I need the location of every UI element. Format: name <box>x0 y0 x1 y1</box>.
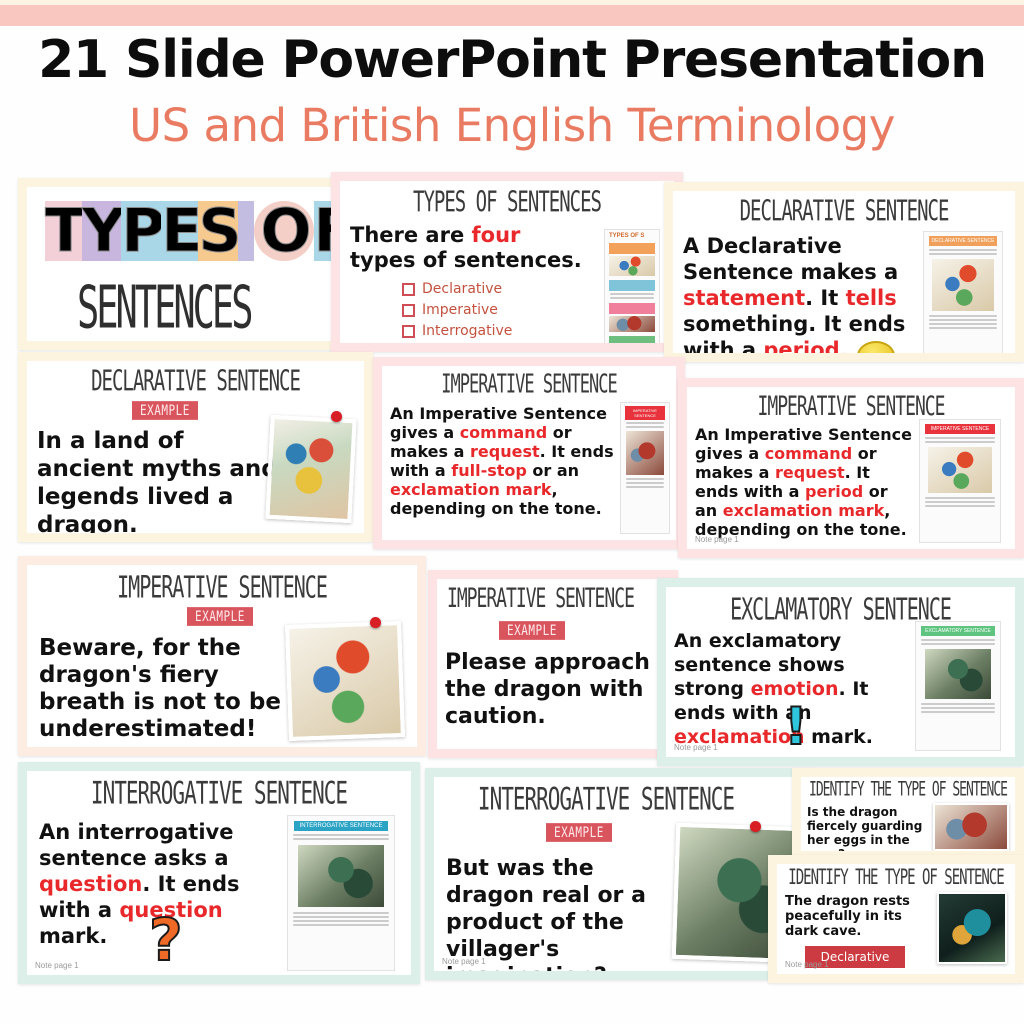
checkbox-icon[interactable] <box>402 325 415 338</box>
mini-poster-title: DECLARATIVE SENTENCE <box>929 236 997 246</box>
note-label: Note page 1 <box>674 743 718 752</box>
mini-poster-thumbnail: INTERROGATIVE SENTENCE <box>287 815 395 971</box>
slide-imperative-example-2[interactable]: IMPERATIVE SENTENCE EXAMPLE Please appro… <box>428 570 678 758</box>
slide-imperative-british[interactable]: IMPERATIVE SENTENCE An Imperative Senten… <box>373 357 685 549</box>
example-badge: EXAMPLE <box>132 401 198 420</box>
slide-body: Beware, for the dragon's fiery breath is… <box>39 635 289 743</box>
mini-poster-thumbnail: IMPERATIVE SENTENCE <box>620 402 670 534</box>
slide-types-of-sentences[interactable]: TYPES OF SENTENCES There are four types … <box>331 172 683 352</box>
title-slide-word-bottom: SENTENCES <box>77 273 250 342</box>
slide-imperative-us[interactable]: IMPERATIVE SENTENCE An Imperative Senten… <box>678 378 1024 558</box>
question-mark-icon: ? <box>149 911 183 969</box>
slide-heading: IMPERATIVE SENTENCE <box>687 391 1015 423</box>
slide-declarative-definition[interactable]: DECLARATIVE SENTENCE A Declarative Sente… <box>664 182 1024 362</box>
slide-heading: DECLARATIVE SENTENCE <box>673 195 1015 228</box>
slide-heading: IMPERATIVE SENTENCE <box>27 569 417 605</box>
mini-poster-title: INTERROGATIVE SENTENCE <box>294 821 388 831</box>
body-highlight: four <box>472 223 521 247</box>
page-subtitle: US and British English Terminology <box>0 103 1024 148</box>
mini-poster-title: IMPERATIVE SENTENCE <box>625 406 665 420</box>
page-title: 21 Slide PowerPoint Presentation <box>0 34 1024 86</box>
slide-interrogative-example[interactable]: INTERROGATIVE SENTENCE EXAMPLE But was t… <box>425 768 817 980</box>
checkbox-icon[interactable] <box>402 346 415 353</box>
sentence-type-list: Declarative Imperative Interrogative Exc… <box>402 279 512 352</box>
title-slide-word-top: TYPES OF <box>45 201 340 261</box>
slide-heading: DECLARATIVE SENTENCE <box>27 365 364 398</box>
mini-poster-title: EXCLAMATORY SENTENCE <box>921 626 995 636</box>
slide-interrogative-definition[interactable]: INTERROGATIVE SENTENCE An interrogative … <box>18 762 420 984</box>
exclamation-mark-icon: ! <box>784 701 808 753</box>
slide-body: There are four types of sentences. <box>350 223 595 273</box>
slide-heading: TYPES OF SENTENCES <box>340 186 674 219</box>
slide-body: An Imperative Sentence gives a command o… <box>695 425 913 539</box>
pin-icon <box>750 821 761 832</box>
dragon-photo <box>265 415 356 523</box>
dragon-photo <box>285 621 405 741</box>
body-part-1: There are <box>350 223 472 247</box>
slide-heading: IDENTIFY THE TYPE OF SENTENCE <box>777 866 1015 890</box>
dragon-photo <box>933 803 1009 851</box>
checkbox-icon[interactable] <box>402 304 415 317</box>
top-banner-cap <box>0 0 1024 5</box>
mini-poster-thumbnail: DECLARATIVE SENTENCE <box>923 231 1003 361</box>
note-label: Note page 1 <box>695 535 739 544</box>
example-badge: EXAMPLE <box>187 607 253 626</box>
slide-declarative-example[interactable]: DECLARATIVE SENTENCE EXAMPLE In a land o… <box>18 352 373 542</box>
list-item: Interrogative <box>402 321 512 342</box>
slide-body: The dragon rests peacefully in its dark … <box>785 894 925 939</box>
slide-heading: IMPERATIVE SENTENCE <box>382 370 676 400</box>
slide-heading: IDENTIFY THE TYPE OF SENTENCE <box>801 779 1015 802</box>
slide-body: In a land of ancient myths and legends l… <box>37 427 282 539</box>
mini-poster-thumbnail: TYPES OF S <box>604 229 660 349</box>
example-badge: EXAMPLE <box>546 823 612 842</box>
slide-identify-2[interactable]: IDENTIFY THE TYPE OF SENTENCE The dragon… <box>768 855 1024 983</box>
note-label: Note page 1 <box>785 960 829 969</box>
slide-body: Is the dragon fiercely guarding her eggs… <box>807 805 939 860</box>
slide-exclamatory-definition[interactable]: EXCLAMATORY SENTENCE An exclamatory sent… <box>657 578 1024 766</box>
list-item: Exclamatory <box>402 342 512 352</box>
checkbox-icon[interactable] <box>402 283 415 296</box>
mini-poster-label: TYPES OF S <box>609 233 655 239</box>
example-badge: EXAMPLE <box>499 621 565 640</box>
slide-heading: IMPERATIVE SENTENCE <box>447 583 678 615</box>
slide-title[interactable]: TYPES OF SENTENCES <box>18 178 340 350</box>
slide-imperative-example-1[interactable]: IMPERATIVE SENTENCE EXAMPLE Beware, for … <box>18 556 426 756</box>
pin-icon <box>331 411 342 422</box>
slide-body: Please approach the dragon with caution. <box>445 649 670 730</box>
pin-icon <box>370 617 381 628</box>
body-part-2: types of sentences. <box>350 248 582 272</box>
mini-poster-title: IMPERATIVE SENTENCE <box>925 424 995 434</box>
list-item: Imperative <box>402 300 512 321</box>
list-item: Declarative <box>402 279 512 300</box>
note-label: Note page 1 <box>442 957 486 966</box>
slide-heading: INTERROGATIVE SENTENCE <box>27 775 411 811</box>
preview-collage: 21 Slide PowerPoint Presentation US and … <box>0 0 1024 1024</box>
mini-poster-thumbnail: IMPERATIVE SENTENCE <box>919 419 1001 543</box>
slide-identify-1[interactable]: IDENTIFY THE TYPE OF SENTENCE Is the dra… <box>792 768 1024 860</box>
mini-poster-thumbnail: EXCLAMATORY SENTENCE <box>915 621 1001 751</box>
slide-heading: INTERROGATIVE SENTENCE <box>434 781 778 817</box>
slide-body: An Imperative Sentence gives a command o… <box>390 404 622 518</box>
dragon-photo <box>937 892 1007 964</box>
note-label: Note page 1 <box>35 961 79 970</box>
